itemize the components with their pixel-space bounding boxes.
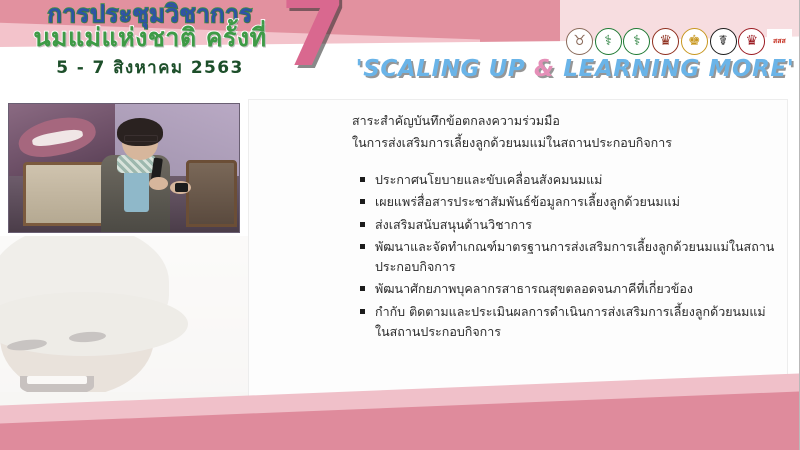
bullet-item: กำกับ ติดตามและประเมินผลการดำเนินการส่งเ… — [360, 302, 780, 343]
content-heading: สาระสำคัญบันทึกข้อตกลงความร่วมมือ ในการส… — [352, 110, 772, 154]
bullet-item: เผยแพร่สื่อสารประชาสัมพันธ์ข้อมูลการเลี้… — [360, 192, 780, 212]
speaker-hair — [117, 118, 163, 146]
video-chair-left — [23, 162, 106, 226]
bullet-item: ประกาศนโยบายและขับเคลื่อนสังคมนมแม่ — [360, 170, 780, 190]
bullet-square-icon — [360, 222, 365, 227]
logo-thaihealth-sss-icon: สสส — [767, 29, 792, 54]
bullet-square-icon — [360, 199, 365, 204]
bullet-square-icon — [360, 309, 365, 314]
bullet-square-icon — [360, 244, 365, 249]
content-bullet-list: ประกาศนโยบายและขับเคลื่อนสังคมนมแม่เผยแพ… — [360, 170, 780, 344]
partner-logo-strip: ♉⚕⚕♛♚☤♛สสส — [566, 26, 792, 56]
bullet-text: พัฒนาศักยภาพบุคลากรสาธารณสุขตลอดจนภาคีที… — [375, 281, 693, 296]
bullet-square-icon — [360, 286, 365, 291]
speaker-video-still — [8, 103, 240, 233]
bullet-item: ส่งเสริมสนับสนุนด้านวิชาการ — [360, 215, 780, 235]
bullet-text: เผยแพร่สื่อสารประชาสัมพันธ์ข้อมูลการเลี้… — [375, 194, 680, 209]
logo-thai-breastfeeding-foundation-icon: ♉ — [566, 28, 593, 55]
child-teeth — [27, 376, 87, 384]
logo-royal-emblem-icon: ♚ — [681, 28, 708, 55]
content-heading-line2: ในการส่งเสริมการเลี้ยงลูกด้วยนมแม่ในสถาน… — [352, 132, 772, 154]
logo-ministry-public-health-icon: ⚕ — [595, 28, 622, 55]
video-chair-right — [186, 160, 237, 227]
logo-department-health-icon: ⚕ — [623, 28, 650, 55]
presentation-slide: 7 การประชุมวิชาการ นมแม่แห่งชาติ ครั้งที… — [0, 0, 800, 450]
slogan-ampersand: & — [534, 56, 555, 82]
conference-title-block: การประชุมวิชาการ นมแม่แห่งชาติ ครั้งที่ … — [0, 2, 300, 81]
bullet-item: พัฒนาและจัดทำเกณฑ์มาตรฐานการส่งเสริมการเ… — [360, 237, 780, 278]
footer-band-base — [0, 436, 800, 450]
logo-pediatric-society-icon: ♛ — [738, 28, 765, 55]
bullet-item: พัฒนาศักยภาพบุคลากรสาธารณสุขตลอดจนภาคีที… — [360, 279, 780, 299]
speaker-glasses — [124, 135, 158, 142]
speaker-shirt — [124, 168, 149, 212]
logo-royal-college-icon: ♛ — [652, 28, 679, 55]
logo-medical-council-icon: ☤ — [710, 28, 737, 55]
content-heading-line1: สาระสำคัญบันทึกข้อตกลงความร่วมมือ — [352, 110, 772, 132]
presenter-remote-icon — [175, 183, 189, 192]
slogan-prefix: 'SCALING UP — [356, 56, 534, 82]
conference-slogan: 'SCALING UP & LEARNING MORE' — [355, 56, 795, 82]
bullet-text: ส่งเสริมสนับสนุนด้านวิชาการ — [375, 217, 532, 232]
bullet-text: ประกาศนโยบายและขับเคลื่อนสังคมนมแม่ — [375, 172, 602, 187]
speaker-hand-left — [149, 177, 167, 190]
slogan-suffix: LEARNING MORE' — [555, 56, 795, 82]
bullet-text: กำกับ ติดตามและประเมินผลการดำเนินการส่งเ… — [375, 304, 766, 339]
bullet-text: พัฒนาและจัดทำเกณฑ์มาตรฐานการส่งเสริมการเ… — [375, 239, 774, 274]
bullet-square-icon — [360, 177, 365, 182]
conference-title-line2: นมแม่แห่งชาติ ครั้งที่ — [0, 25, 300, 51]
conference-date-range: 5 - 7 สิงหาคม 2563 — [0, 54, 300, 81]
